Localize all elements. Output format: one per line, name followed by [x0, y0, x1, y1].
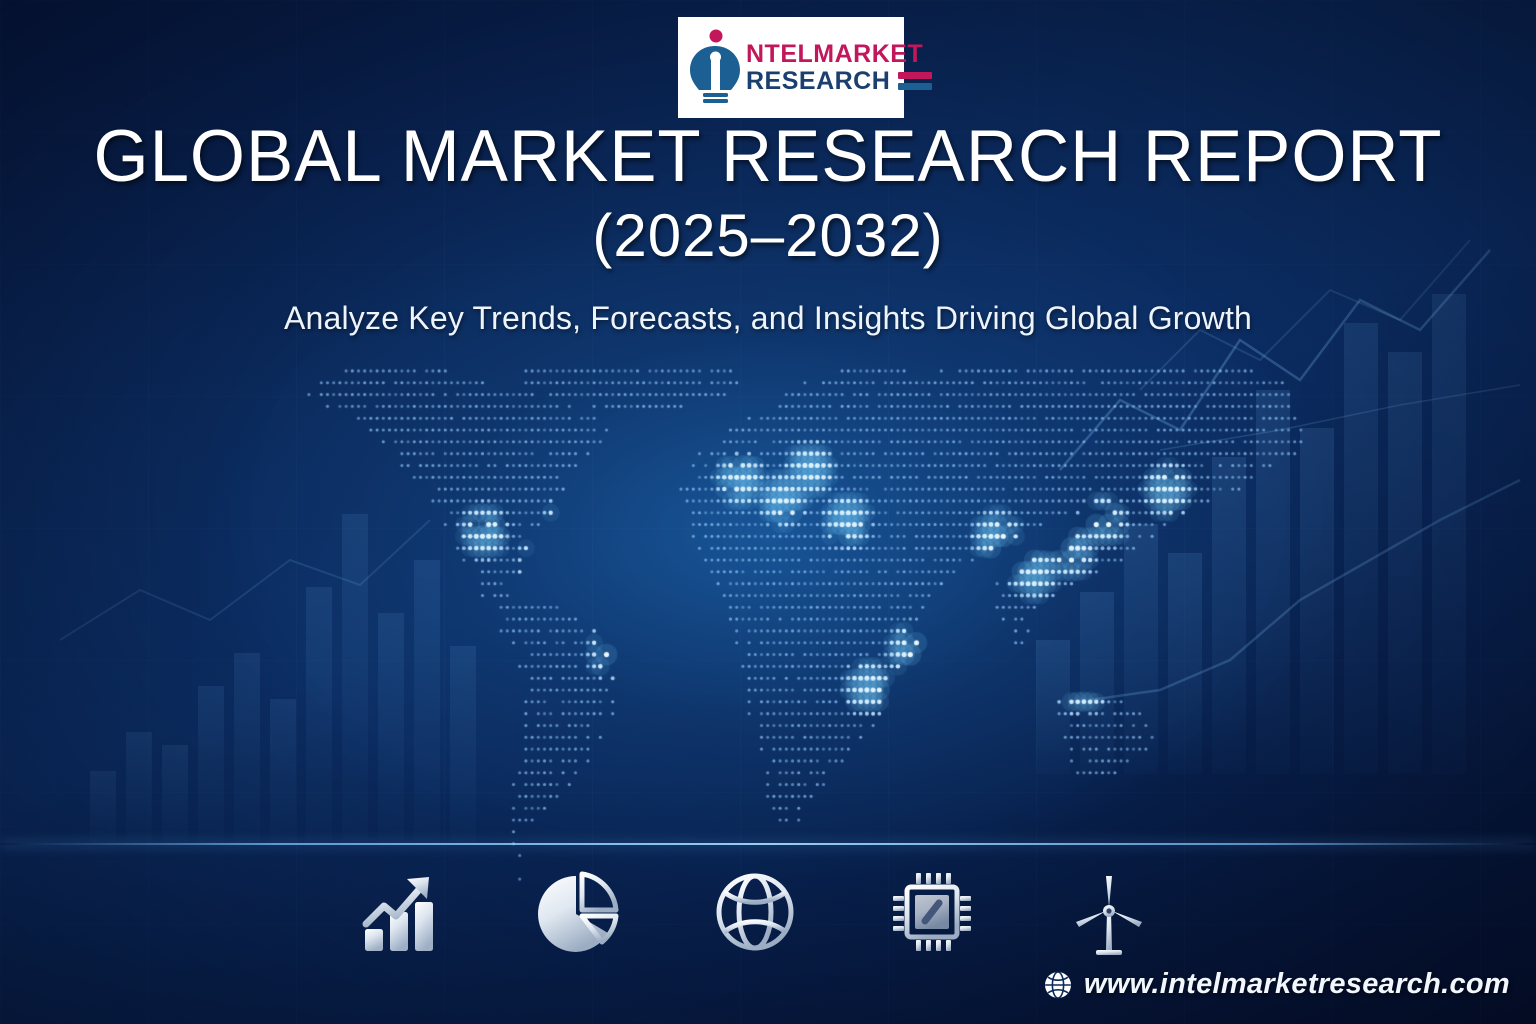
report-cover: NTELMARKET RESEARCH GLOBAL MARKET RESEAR…: [0, 0, 1536, 1024]
wind-turbine-icon: [1063, 866, 1155, 958]
url-text: www.intelmarketresearch.com: [1084, 968, 1510, 1001]
globe-icon: [709, 866, 801, 958]
microchip-icon: [886, 866, 978, 958]
brand-line-1: NTELMARKET: [746, 41, 932, 68]
brand-line-2: RESEARCH: [746, 68, 890, 95]
horizontal-glow-line: [0, 843, 1536, 845]
feature-icon-row: [355, 866, 1155, 958]
pie-chart-icon: [532, 866, 624, 958]
brand-dashes-icon: [898, 72, 932, 90]
brand-logo[interactable]: NTELMARKET RESEARCH: [678, 17, 904, 118]
website-url[interactable]: www.intelmarketresearch.com: [1044, 968, 1510, 1001]
page-subtitle: Analyze Key Trends, Forecasts, and Insig…: [0, 300, 1536, 337]
page-title: GLOBAL MARKET RESEARCH REPORT: [23, 118, 1513, 197]
brand-wordmark: NTELMARKET RESEARCH: [746, 41, 932, 95]
forecast-period: (2025–2032): [0, 201, 1536, 272]
growth-bar-chart-icon: [355, 866, 447, 958]
headline-block: GLOBAL MARKET RESEARCH REPORT (2025–2032…: [0, 118, 1536, 337]
globe-icon: [1044, 971, 1072, 999]
lightbulb-icon: [686, 29, 744, 107]
